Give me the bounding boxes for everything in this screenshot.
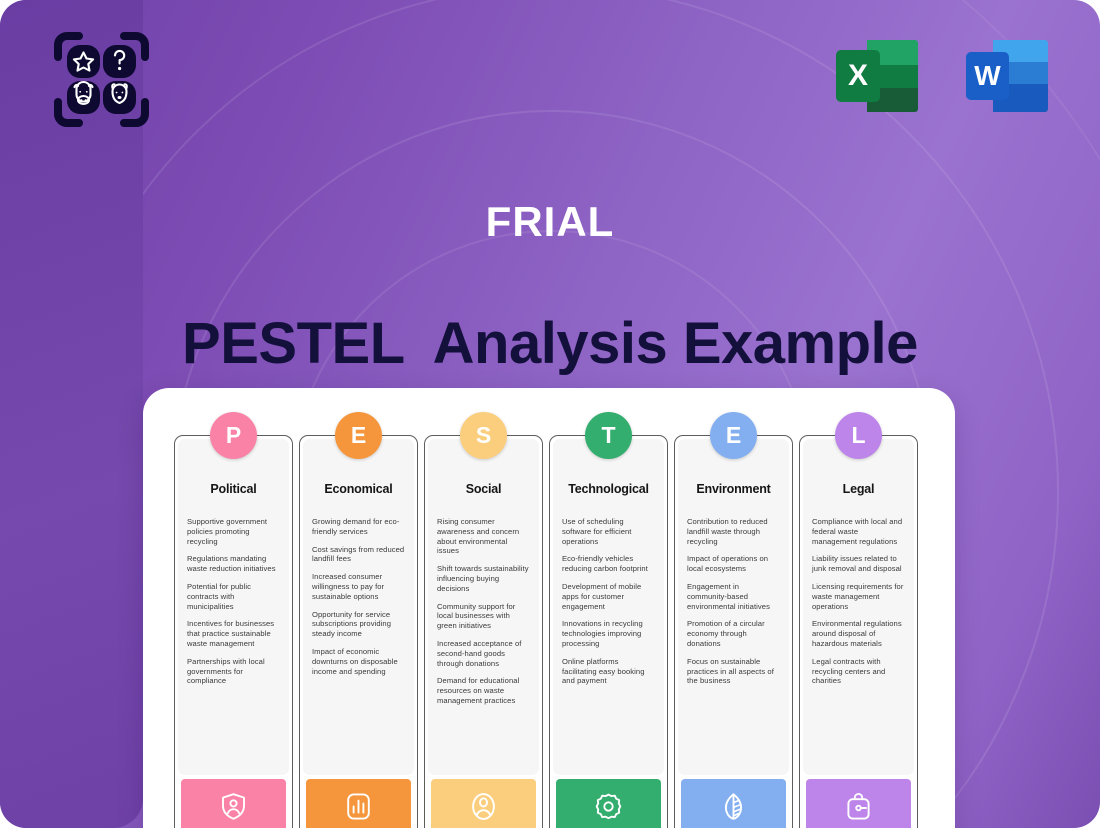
pestel-column-economical[interactable]: EconomicalGrowing demand for eco-friendl… xyxy=(299,435,418,828)
shield-person-icon xyxy=(218,791,249,822)
pestel-column-political[interactable]: PoliticalSupportive government policies … xyxy=(174,435,293,828)
list-item: Community support for local businesses w… xyxy=(437,602,530,631)
list-item: Shift towards sustainability influencing… xyxy=(437,564,530,593)
column-inner: PoliticalSupportive government policies … xyxy=(178,439,289,775)
letter-badge-technological: T xyxy=(585,412,632,459)
column-body: Rising consumer awareness and concern ab… xyxy=(428,501,539,775)
list-item: Contribution to reduced landfill waste t… xyxy=(687,517,780,546)
office-icons-group: X W xyxy=(829,28,1055,124)
list-item: Supportive government policies promoting… xyxy=(187,517,280,546)
letter-badge-legal: L xyxy=(835,412,882,459)
pestel-column-legal[interactable]: LegalCompliance with local and federal w… xyxy=(799,435,918,828)
list-item: Cost savings from reduced landfill fees xyxy=(312,545,405,565)
pestel-column-environment[interactable]: EnvironmentContribution to reduced landf… xyxy=(674,435,793,828)
column-body: Growing demand for eco-friendly services… xyxy=(303,501,414,775)
list-item: Impact of economic downturns on disposab… xyxy=(312,647,405,676)
column-icon-tile xyxy=(306,779,411,828)
column-icon-tile xyxy=(681,779,786,828)
excel-icon[interactable]: X xyxy=(829,28,925,124)
bar-chart-icon xyxy=(343,791,374,822)
column-title: Legal xyxy=(843,482,875,496)
brand-name: FRIAL xyxy=(0,198,1100,246)
list-item: Focus on sustainable practices in all as… xyxy=(687,657,780,686)
column-body: Compliance with local and federal waste … xyxy=(803,501,914,775)
svg-text:X: X xyxy=(848,59,868,92)
list-item: Development of mobile apps for customer … xyxy=(562,582,655,611)
list-item: Demand for educational resources on wast… xyxy=(437,676,530,705)
column-body: Use of scheduling software for efficient… xyxy=(553,501,664,775)
list-item: Promotion of a circular economy through … xyxy=(687,619,780,648)
column-icon-tile xyxy=(806,779,911,828)
column-inner: EnvironmentContribution to reduced landf… xyxy=(678,439,789,775)
list-item: Compliance with local and federal waste … xyxy=(812,517,905,546)
column-inner: EconomicalGrowing demand for eco-friendl… xyxy=(303,439,414,775)
slide-canvas: X W FRIAL PESTEL Analysis Example Politi… xyxy=(0,0,1100,828)
list-item: Partnerships with local governments for … xyxy=(187,657,280,686)
letter-badge-environment: E xyxy=(710,412,757,459)
list-item: Growing demand for eco-friendly services xyxy=(312,517,405,537)
list-item: Online platforms facilitating easy booki… xyxy=(562,657,655,686)
list-item: Rising consumer awareness and concern ab… xyxy=(437,517,530,556)
list-item: Potential for public contracts with muni… xyxy=(187,582,280,611)
gear-icon xyxy=(593,791,624,822)
column-inner: TechnologicalUse of scheduling software … xyxy=(553,439,664,775)
column-title: Environment xyxy=(696,482,770,496)
column-inner: SocialRising consumer awareness and conc… xyxy=(428,439,539,775)
word-icon[interactable]: W xyxy=(959,28,1055,124)
column-body: Supportive government policies promoting… xyxy=(178,501,289,775)
list-item: Licensing requirements for waste managem… xyxy=(812,582,905,611)
column-icon-tile xyxy=(556,779,661,828)
list-item: Legal contracts with recycling centers a… xyxy=(812,657,905,686)
list-item: Increased acceptance of second-hand good… xyxy=(437,639,530,668)
column-inner: LegalCompliance with local and federal w… xyxy=(803,439,914,775)
column-icon-tile xyxy=(431,779,536,828)
list-item: Environmental regulations around disposa… xyxy=(812,619,905,648)
column-body: Contribution to reduced landfill waste t… xyxy=(678,501,789,775)
pestel-column-technological[interactable]: TechnologicalUse of scheduling software … xyxy=(549,435,668,828)
list-item: Opportunity for service subscriptions pr… xyxy=(312,610,405,639)
letter-badge-economical: E xyxy=(335,412,382,459)
pestel-columns: PoliticalSupportive government policies … xyxy=(174,435,918,828)
leaf-icon xyxy=(718,791,749,822)
letter-badge-political: P xyxy=(210,412,257,459)
column-title: Social xyxy=(466,482,502,496)
list-item: Incentives for businesses that practice … xyxy=(187,619,280,648)
list-item: Use of scheduling software for efficient… xyxy=(562,517,655,546)
column-title: Technological xyxy=(568,482,649,496)
column-title: Economical xyxy=(324,482,392,496)
column-icon-tile xyxy=(181,779,286,828)
column-title: Political xyxy=(210,482,256,496)
svg-text:W: W xyxy=(974,60,1001,91)
pestel-card: PoliticalSupportive government policies … xyxy=(143,388,955,828)
list-item: Liability issues related to junk removal… xyxy=(812,554,905,574)
briefcase-icon xyxy=(843,791,874,822)
list-item: Engagement in community-based environmen… xyxy=(687,582,780,611)
list-item: Innovations in recycling technologies im… xyxy=(562,619,655,648)
pestel-column-social[interactable]: SocialRising consumer awareness and conc… xyxy=(424,435,543,828)
list-item: Increased consumer willingness to pay fo… xyxy=(312,572,405,601)
list-item: Impact of operations on local ecosystems xyxy=(687,554,780,574)
scan-pets-logo-icon xyxy=(49,27,154,132)
page-title: PESTEL Analysis Example xyxy=(0,310,1100,377)
person-icon xyxy=(468,791,499,822)
list-item: Regulations mandating waste reduction in… xyxy=(187,554,280,574)
letter-badge-social: S xyxy=(460,412,507,459)
list-item: Eco-friendly vehicles reducing carbon fo… xyxy=(562,554,655,574)
